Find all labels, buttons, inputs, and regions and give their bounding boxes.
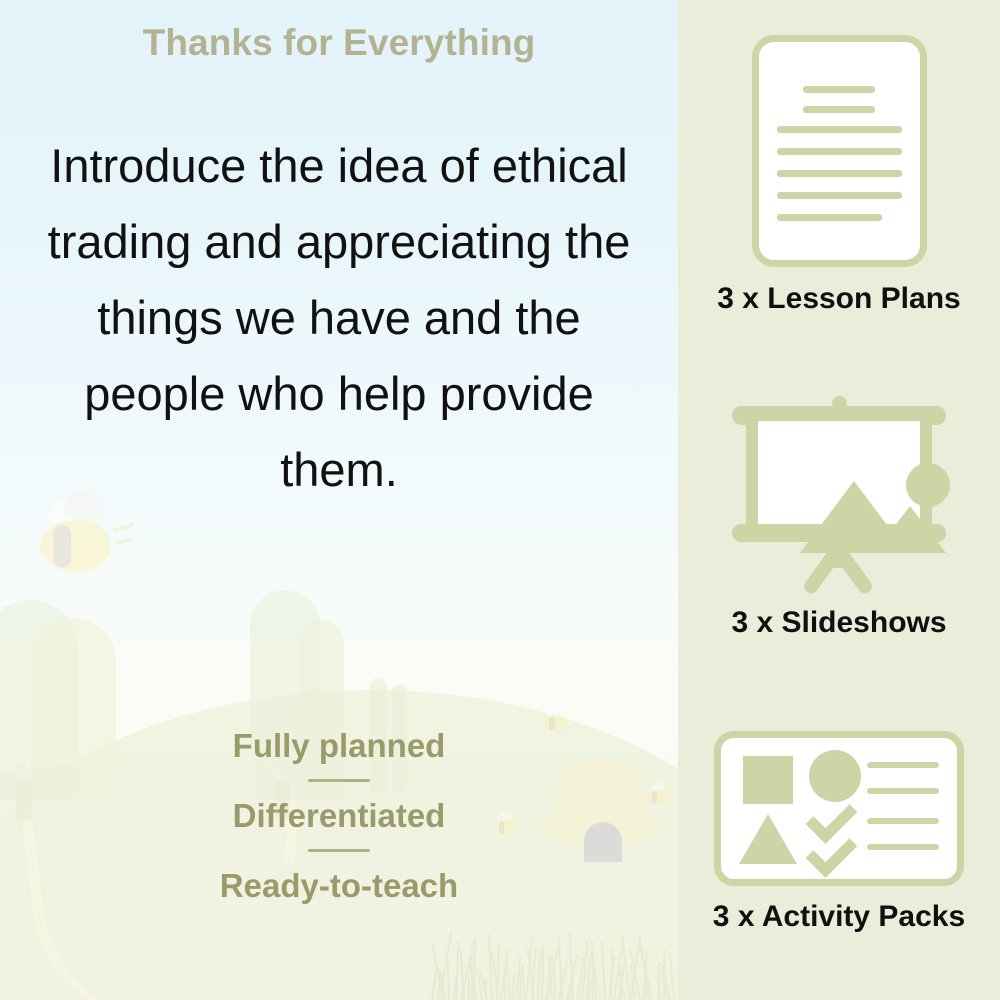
feature-list: Fully planned Differentiated Ready-to-te… xyxy=(0,720,678,911)
square-shape-icon xyxy=(743,756,793,804)
feature-item-fully-planned: Fully planned xyxy=(0,720,678,771)
feature-item-ready-to-teach: Ready-to-teach xyxy=(0,860,678,911)
grass-blade xyxy=(467,976,470,1000)
product-caption: 3 x Activity Packs xyxy=(678,900,1000,934)
body-copy: Introduce the idea of ethical trading an… xyxy=(26,128,652,508)
feature-item-differentiated: Differentiated xyxy=(0,790,678,841)
product-caption: 3 x Slideshows xyxy=(678,606,1000,640)
product-item-lesson-plans: 3 x Lesson Plans xyxy=(678,26,1000,316)
product-item-slideshows: 3 x Slideshows xyxy=(678,388,1000,640)
feature-divider xyxy=(308,849,370,852)
card-text-line xyxy=(867,762,939,768)
grass-blade xyxy=(512,974,515,1000)
grass-blade xyxy=(601,941,606,1000)
right-panel: 3 x Lesson Plans 3 x Sli xyxy=(678,0,1000,1000)
document-icon xyxy=(752,35,927,267)
grass-blade xyxy=(553,961,556,1000)
activity-card-icon xyxy=(714,731,964,886)
grass-blade xyxy=(487,934,492,1000)
triangle-shape-icon xyxy=(739,814,797,864)
grass-blade xyxy=(460,948,465,1000)
tripod-leg-right xyxy=(834,547,875,596)
grass-blade xyxy=(446,960,449,1000)
grass-tufts xyxy=(430,925,678,1000)
grass-blade xyxy=(503,977,506,1000)
card-text-line xyxy=(867,818,939,824)
promo-slide: Thanks for Everything Introduce the idea… xyxy=(0,0,1000,1000)
page-title: Thanks for Everything xyxy=(0,22,678,64)
left-panel: Thanks for Everything Introduce the idea… xyxy=(0,0,678,1000)
feature-divider xyxy=(308,779,370,782)
card-text-line xyxy=(867,844,939,850)
product-item-activity-packs: 3 x Activity Packs xyxy=(678,722,1000,934)
screen-canvas xyxy=(746,421,932,532)
checkmark-icon xyxy=(806,826,858,878)
product-caption: 3 x Lesson Plans xyxy=(678,282,1000,316)
card-text-line xyxy=(867,788,939,794)
projector-screen-icon xyxy=(724,396,954,592)
sun-icon xyxy=(906,463,950,507)
